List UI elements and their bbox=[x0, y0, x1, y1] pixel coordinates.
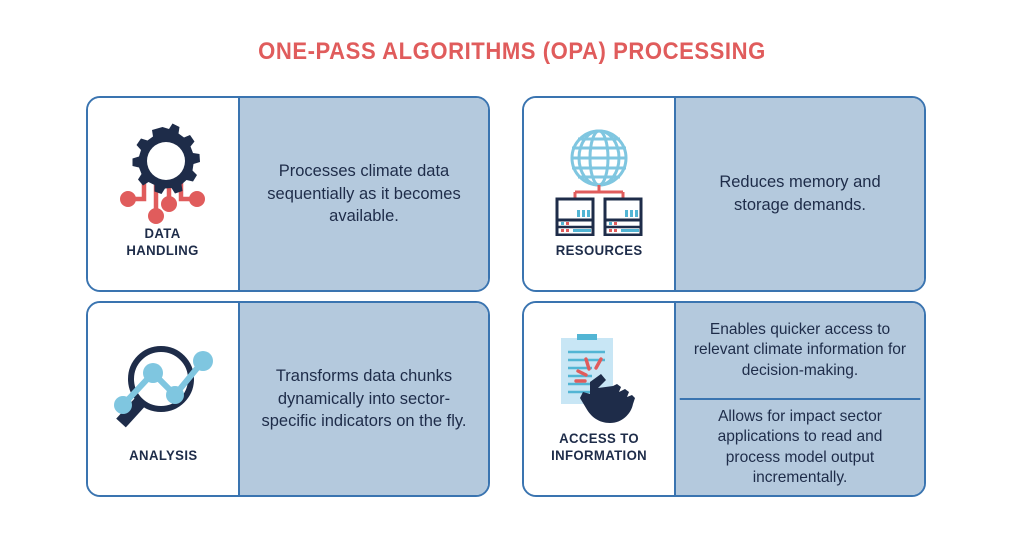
card-label-line1: DATA bbox=[127, 225, 199, 242]
card-text: Enables quicker access to relevant clima… bbox=[680, 303, 921, 398]
icon-panel-data-handling: DATA HANDLING bbox=[88, 98, 240, 290]
card-text: Transforms data chunks dynamically into … bbox=[244, 303, 485, 495]
magnifier-chart-icon bbox=[109, 331, 217, 443]
clipboard-hand-icon bbox=[549, 330, 649, 426]
card-label-line2: HANDLING bbox=[127, 242, 199, 259]
card-label-line1: ACCESS TO bbox=[551, 430, 647, 447]
icon-panel-resources: RESOURCES bbox=[524, 98, 676, 290]
icon-panel-analysis: ANALYSIS bbox=[88, 303, 240, 495]
card-label-access-to-information: ACCESS TO INFORMATION bbox=[551, 430, 647, 463]
text-panel-data-handling: Processes climate data sequentially as i… bbox=[240, 98, 488, 290]
icon-panel-access-to-information: ACCESS TO INFORMATION bbox=[524, 303, 676, 495]
gear-circuit-icon bbox=[111, 125, 215, 221]
card-data-handling: DATA HANDLING Processes climate data seq… bbox=[86, 96, 490, 292]
page-title: ONE-PASS ALGORITHMS (OPA) PROCESSING bbox=[41, 38, 983, 66]
card-text: Allows for impact sector applications to… bbox=[680, 398, 921, 495]
card-analysis: ANALYSIS Transforms data chunks dynamica… bbox=[86, 301, 490, 497]
text-panel-resources: Reduces memory and storage demands. bbox=[676, 98, 924, 290]
card-label-data-handling: DATA HANDLING bbox=[127, 225, 199, 258]
card-resources: RESOURCES Reduces memory and storage dem… bbox=[522, 96, 926, 292]
card-label-line2: INFORMATION bbox=[551, 447, 647, 464]
globe-servers-icon bbox=[547, 126, 651, 238]
card-text: Processes climate data sequentially as i… bbox=[244, 98, 485, 290]
text-panel-access-to-information: Enables quicker access to relevant clima… bbox=[676, 303, 924, 495]
card-label-resources: RESOURCES bbox=[556, 242, 643, 259]
infographic-canvas: ONE-PASS ALGORITHMS (OPA) PROCESSING bbox=[0, 0, 1024, 550]
card-label-line1: RESOURCES bbox=[556, 242, 643, 259]
text-panel-analysis: Transforms data chunks dynamically into … bbox=[240, 303, 488, 495]
card-access-to-information: ACCESS TO INFORMATION Enables quicker ac… bbox=[522, 301, 926, 497]
card-text: Reduces memory and storage demands. bbox=[680, 98, 921, 290]
card-label-analysis: ANALYSIS bbox=[129, 447, 197, 464]
card-label-line1: ANALYSIS bbox=[129, 447, 197, 464]
